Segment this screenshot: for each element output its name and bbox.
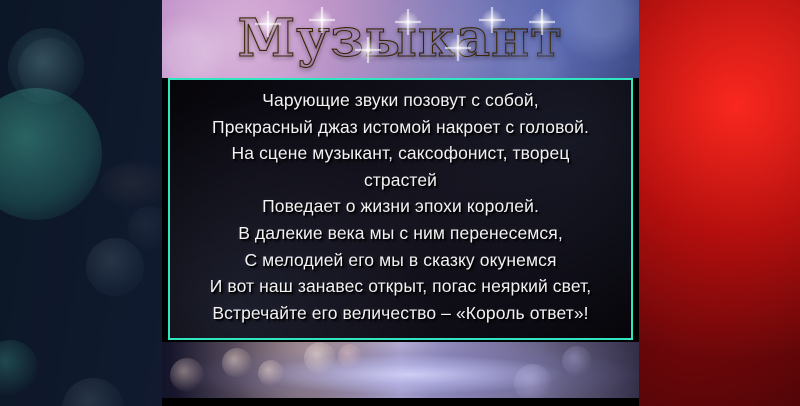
presentation-slide: Музыкант Чарующие звуки позовут с собой,… [162, 0, 639, 406]
bokeh-circle-footer [338, 344, 362, 368]
bokeh-circle-footer [170, 358, 204, 392]
poem-line: Прекрасный джаз истомой накроет с голово… [176, 114, 625, 141]
poem-line: Поведает о жизни эпохи королей. [176, 193, 625, 220]
title-sparkle-group [162, 0, 639, 78]
slide-stage: Музыкант Чарующие звуки позовут с собой,… [0, 0, 800, 406]
sparkle-icon [395, 9, 421, 35]
poem-line: Чарующие звуки позовут с собой, [176, 87, 625, 114]
sparkle-icon [355, 37, 381, 63]
sparkle-icon [255, 11, 281, 37]
bokeh-circle-footer [562, 346, 592, 376]
slide-header-band: Музыкант [162, 0, 639, 78]
poem-line: И вот наш занавес открыт, погас неяркий … [176, 273, 625, 300]
sparkle-icon [445, 35, 471, 61]
poem-line: С мелодией его мы в сказку окунемся [176, 247, 625, 274]
bokeh-circle-footer [514, 364, 552, 398]
slide-title: Музыкант [238, 13, 564, 65]
bokeh-circle-footer [304, 342, 336, 374]
poem-line: В далекие века мы с ним перенесемся, [176, 220, 625, 247]
sparkle-icon [479, 7, 505, 33]
title-container: Музыкант [162, 0, 639, 78]
poem-line: страстей [176, 167, 625, 194]
bokeh-circle-footer [222, 348, 252, 378]
slide-bottom-edge [162, 398, 639, 406]
sparkle-icon [309, 7, 335, 33]
bokeh-circle-footer [258, 360, 284, 386]
sparkle-icon [529, 9, 555, 35]
poem-line: На сцене музыкант, саксофонист, творец [176, 140, 625, 167]
slide-footer-band [162, 342, 639, 398]
poem-line: Встречайте его величество – «Король отве… [176, 300, 625, 327]
poem-text-block: Чарующие звуки позовут с собой, Прекрасн… [170, 87, 631, 326]
poem-panel: Чарующие звуки позовут с собой, Прекрасн… [168, 78, 633, 340]
